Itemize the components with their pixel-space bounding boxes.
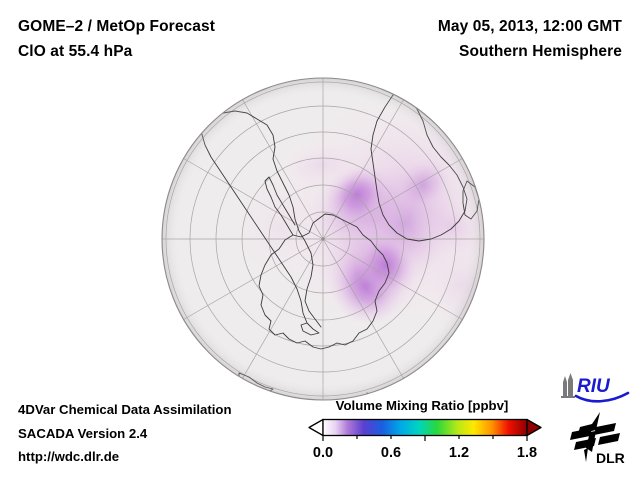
colorbar: Volume Mixing Ratio [ppbv] bbox=[305, 398, 545, 465]
version-label: SACADA Version 2.4 bbox=[18, 422, 232, 446]
datetime-label: May 05, 2013, 12:00 GMT bbox=[438, 14, 622, 39]
colorbar-over-arrow bbox=[527, 420, 541, 436]
dlr-wordmark: DLR bbox=[596, 450, 625, 466]
method-label: 4DVar Chemical Data Assimilation bbox=[18, 398, 232, 422]
dlr-logo-graphic: DLR bbox=[566, 410, 630, 466]
cathedral-towers-icon bbox=[561, 373, 575, 398]
footer-left: 4DVar Chemical Data Assimilation SACADA … bbox=[18, 398, 232, 469]
colorbar-tick-1: 0.6 bbox=[381, 445, 401, 461]
colorbar-tick-0: 0.0 bbox=[313, 445, 333, 461]
colorbar-under-arrow bbox=[309, 420, 323, 436]
instrument-title: GOME–2 / MetOp Forecast bbox=[18, 14, 215, 39]
globe-map bbox=[161, 77, 485, 401]
website-url[interactable]: http://wdc.dlr.de bbox=[18, 445, 232, 469]
header-right: May 05, 2013, 12:00 GMT Southern Hemisph… bbox=[438, 14, 622, 64]
riu-logo-graphic: RIU bbox=[556, 372, 632, 404]
colorbar-tick-3: 1.8 bbox=[517, 445, 537, 461]
south-pole-marker bbox=[321, 237, 324, 240]
hemisphere-label: Southern Hemisphere bbox=[438, 39, 622, 64]
colorbar-tick-2: 1.2 bbox=[449, 445, 469, 461]
riu-logo: RIU bbox=[556, 372, 632, 409]
riu-wordmark: RIU bbox=[577, 376, 611, 397]
header-left: GOME–2 / MetOp Forecast ClO at 55.4 hPa bbox=[18, 14, 215, 64]
species-level-title: ClO at 55.4 hPa bbox=[18, 39, 215, 64]
colorbar-ticks bbox=[323, 436, 527, 442]
dlr-logo: DLR bbox=[566, 410, 630, 471]
orthographic-projection bbox=[161, 77, 485, 401]
colorbar-gradient bbox=[305, 418, 545, 444]
colorbar-bar bbox=[323, 420, 527, 436]
colorbar-tick-labels: 0.0 0.6 1.2 1.8 bbox=[305, 445, 545, 465]
colorbar-title: Volume Mixing Ratio [ppbv] bbox=[309, 398, 535, 413]
